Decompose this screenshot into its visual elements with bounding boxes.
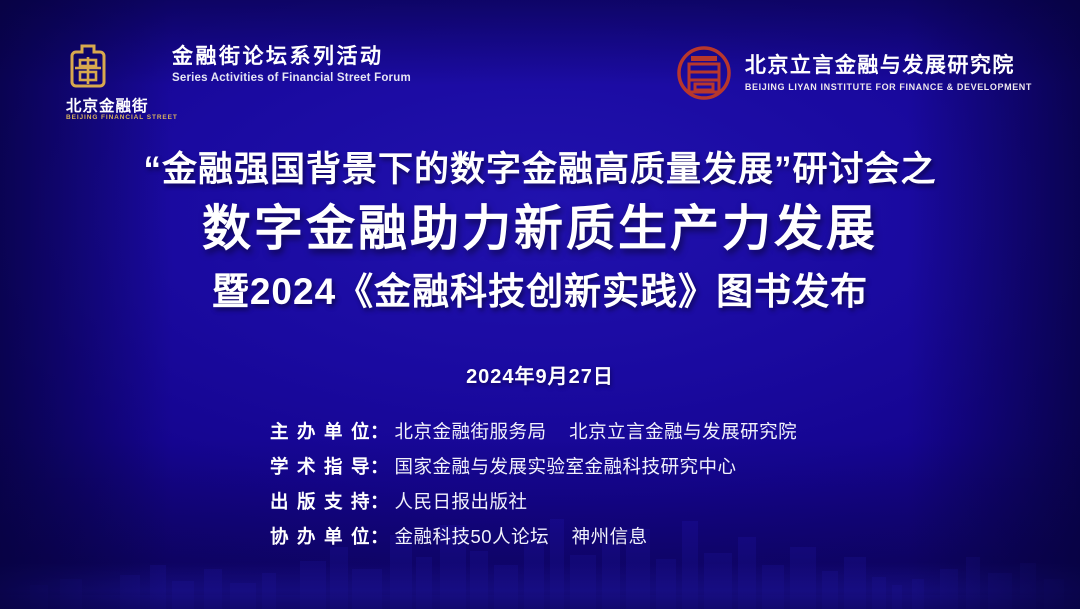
credit-label: 出版支持 [270,488,370,514]
poster-titles: “金融强国背景下的数字金融高质量发展”研讨会之 数字金融助力新质生产力发展 暨2… [0,148,1080,315]
credit-value: 北京金融街服务局 北京立言金融与发展研究院 [395,418,798,444]
credit-label: 协办单位 [270,523,370,549]
title-line-2-main: 数字金融助力新质生产力发展 [0,198,1080,259]
credit-colon: ： [370,488,389,514]
credit-value: 国家金融与发展实验室金融科技研究中心 [395,453,737,479]
credit-row: 主办单位 ： 北京金融街服务局 北京立言金融与发展研究院 [270,418,810,444]
forum-title-cn: 金融街论坛系列活动 [172,46,411,68]
credit-row: 学术指导 ： 国家金融与发展实验室金融科技研究中心 [270,453,810,479]
forum-title-en: Series Activities of Financial Street Fo… [172,72,411,84]
event-poster: 北京金融街 BEIJING FINANCIAL STREET 金融街论坛系列活动… [0,0,1080,609]
poster-header: 北京金融街 BEIJING FINANCIAL STREET 金融街论坛系列活动… [0,40,1080,126]
institute-name-cn: 北京立言金融与发展研究院 [745,54,1032,77]
brand-name-cn: 北京金融街 [66,94,149,116]
credits-block: 主办单位 ： 北京金融街服务局 北京立言金融与发展研究院 学术指导 ： 国家金融… [0,418,1080,558]
logo-liyan-institute: 北京立言金融与发展研究院 BEIJING LIYAN INSTITUTE FOR… [675,44,1032,102]
event-date: 2024年9月27日 [0,360,1080,389]
credit-value: 人民日报出版社 [395,488,528,514]
title-line-3: 暨2024《金融科技创新实践》图书发布 [0,269,1080,315]
institute-name-en: BEIJING LIYAN INSTITUTE FOR FINANCE & DE… [745,82,1032,92]
credit-colon: ： [370,523,389,549]
logo-financial-street: 北京金融街 BEIJING FINANCIAL STREET 金融街论坛系列活动… [62,44,411,116]
liyan-institute-seal-icon [675,44,733,102]
credit-row: 协办单位 ： 金融科技50人论坛 神州信息 [270,523,810,549]
credit-colon: ： [370,453,389,479]
credit-row: 出版支持 ： 人民日报出版社 [270,488,810,514]
beijing-financial-street-seal-icon: 北京金融街 BEIJING FINANCIAL STREET [62,44,114,116]
credit-colon: ： [370,418,389,444]
credit-value: 金融科技50人论坛 神州信息 [395,523,648,549]
credit-label: 学术指导 [270,453,370,479]
credit-label: 主办单位 [270,418,370,444]
title-line-1: “金融强国背景下的数字金融高质量发展”研讨会之 [0,148,1080,192]
skyline-glow [0,563,1080,609]
brand-name-en: BEIJING FINANCIAL STREET [66,114,178,121]
